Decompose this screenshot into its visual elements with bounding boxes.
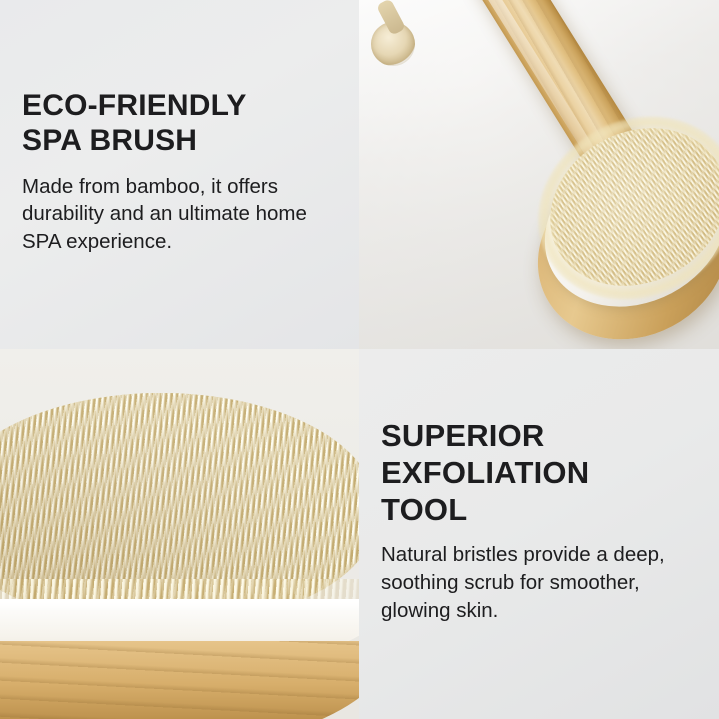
closeup-bamboo-base [0, 641, 359, 719]
headline-top-left-line1: ECO-FRIENDLY [22, 89, 247, 122]
infographic-grid: ECO-FRIENDLY SPA BRUSH Made from bamboo,… [0, 0, 719, 719]
headline-bottom-right-line1: SUPERIOR [381, 417, 697, 454]
panel-superior-exfoliation-tool: SUPERIOR EXFOLIATION TOOL Natural bristl… [359, 349, 719, 719]
product-infographic: ECO-FRIENDLY SPA BRUSH Made from bamboo,… [0, 0, 719, 719]
photo-spa-brush-full [359, 0, 719, 349]
headline-bottom-right-line3: TOOL [381, 491, 697, 528]
body-top-left: Made from bamboo, it offers durability a… [22, 173, 322, 256]
photo-bristles-closeup [0, 349, 359, 719]
panel-eco-friendly-spa-brush: ECO-FRIENDLY SPA BRUSH Made from bamboo,… [0, 0, 359, 349]
headline-bottom-right-line2: EXFOLIATION [381, 454, 697, 491]
headline-bottom-right: SUPERIOR EXFOLIATION TOOL [381, 417, 697, 529]
body-bottom-right: Natural bristles provide a deep, soothin… [381, 541, 697, 626]
headline-top-left: ECO-FRIENDLY SPA BRUSH [22, 88, 333, 159]
headline-top-left-line2: SPA BRUSH [22, 123, 333, 158]
